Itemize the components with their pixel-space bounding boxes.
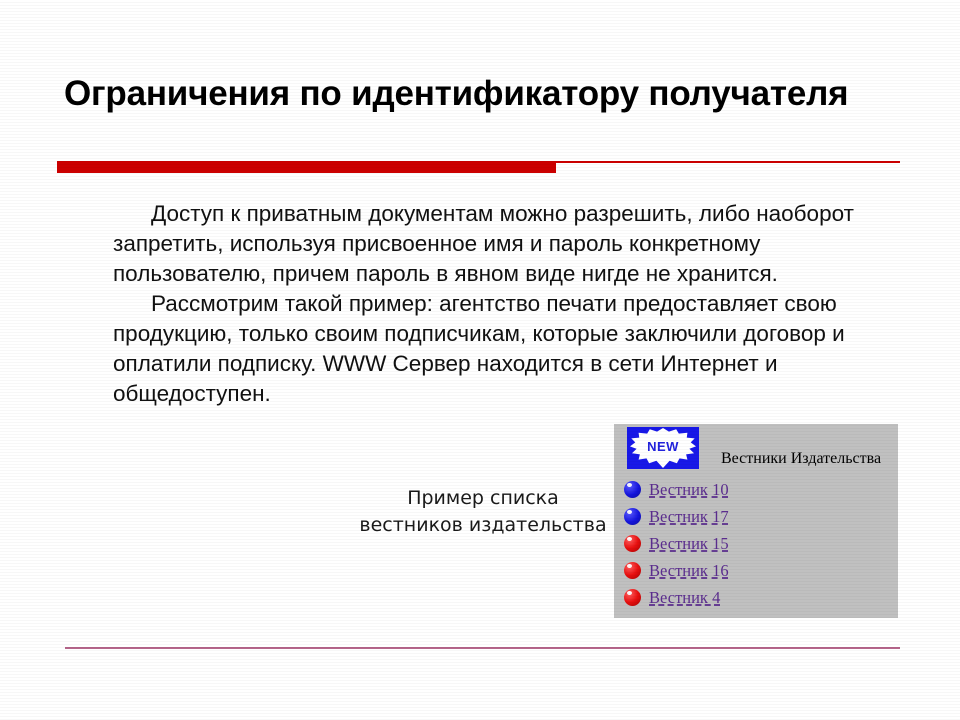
publisher-link[interactable]: Вестник 15 [649, 534, 729, 554]
example-caption: Пример списка вестников издательства [352, 485, 614, 539]
bullet-sphere-icon [624, 562, 641, 579]
list-item[interactable]: Вестник 15 [624, 530, 729, 557]
bullet-sphere-icon [624, 481, 641, 498]
publisher-link[interactable]: Вестник 10 [649, 480, 729, 500]
publisher-link[interactable]: Вестник 17 [649, 507, 729, 527]
body-paragraph-1: Доступ к приватным документам можно разр… [113, 199, 868, 289]
list-item[interactable]: Вестник 10 [624, 476, 729, 503]
publisher-list-heading: Вестники Издательства [721, 450, 881, 468]
example-caption-line-1: Пример списка [352, 485, 614, 512]
bullet-sphere-icon [624, 589, 641, 606]
example-caption-line-2: вестников издательства [352, 512, 614, 539]
publisher-list: Вестник 10 Вестник 17 Вестник 15 Вестник… [624, 476, 729, 611]
panel-header-row: NEW Вестники Издательства [614, 424, 898, 472]
list-item[interactable]: Вестник 4 [624, 584, 729, 611]
slide-canvas: Ограничения по идентификатору получателя… [0, 0, 960, 720]
publisher-list-screenshot: NEW Вестники Издательства Вестник 10 Вес… [614, 424, 898, 618]
publisher-link[interactable]: Вестник 4 [649, 588, 720, 608]
body-paragraph-2: Рассмотрим такой пример: агентство печат… [113, 289, 868, 409]
new-badge-label: NEW [627, 439, 699, 454]
publisher-link[interactable]: Вестник 16 [649, 561, 729, 581]
bullet-sphere-icon [624, 535, 641, 552]
list-item[interactable]: Вестник 16 [624, 557, 729, 584]
new-badge-icon: NEW [627, 427, 699, 469]
page-title: Ограничения по идентификатору получателя [64, 71, 884, 117]
list-item[interactable]: Вестник 17 [624, 503, 729, 530]
bullet-sphere-icon [624, 508, 641, 525]
footer-divider [65, 647, 900, 649]
body-copy: Доступ к приватным документам можно разр… [113, 199, 868, 409]
title-rule-accent-bar [57, 161, 556, 173]
